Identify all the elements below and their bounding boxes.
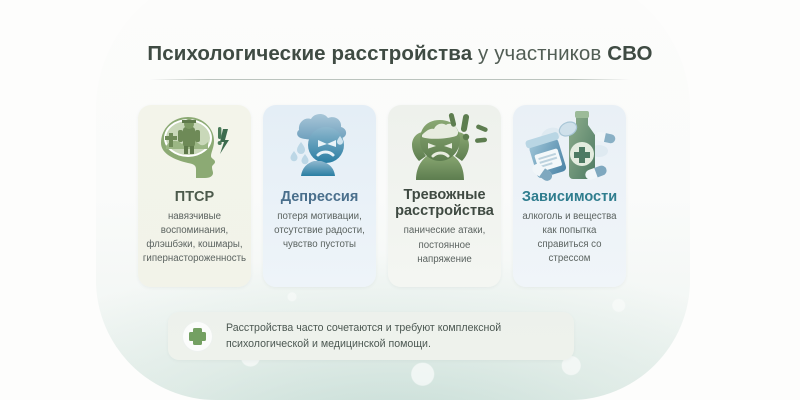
- disorder-card-depression[interactable]: Депрессия потеря мотивации, отсутствие р…: [263, 105, 376, 287]
- card-title: Тревожные расстройства: [388, 187, 501, 219]
- card-description: потеря мотивации, отсутствие радости, чу…: [263, 210, 376, 252]
- sad-face-rain-cloud-icon: [263, 105, 376, 187]
- summary-banner: Расстройства часто сочетаются и требуют …: [168, 312, 574, 360]
- summary-line-2: психологической и медицинской помощи.: [226, 336, 501, 352]
- card-title: Зависимости: [522, 189, 617, 205]
- medical-cross-icon: [182, 321, 213, 352]
- bottle-pills-icon: [513, 105, 626, 187]
- head-clutching-stress-icon: [388, 105, 501, 187]
- title-divider: [150, 79, 630, 80]
- card-description: алкоголь и вещества как попытка справить…: [513, 210, 626, 266]
- page-title-part-3: СВО: [607, 42, 652, 65]
- infographic-slide: Психологические расстройства у участнико…: [0, 0, 800, 400]
- page-title: Психологические расстройства у участнико…: [0, 42, 800, 66]
- summary-line-1: Расстройства часто сочетаются и требуют …: [226, 320, 501, 336]
- disorder-card-list: ПТСР навязчивые воспоминания, флэшбэки, …: [138, 105, 626, 287]
- head-soldier-flashback-icon: [138, 105, 251, 187]
- disorder-card-ptsr[interactable]: ПТСР навязчивые воспоминания, флэшбэки, …: [138, 105, 251, 287]
- summary-banner-text: Расстройства часто сочетаются и требуют …: [226, 320, 501, 353]
- card-title: ПТСР: [175, 189, 214, 205]
- disorder-card-anxiety[interactable]: Тревожные расстройства панические атаки,…: [388, 105, 501, 287]
- disorder-card-addiction[interactable]: Зависимости алкоголь и вещества как попы…: [513, 105, 626, 287]
- card-title: Депрессия: [281, 189, 359, 205]
- page-title-part-1: Психологические расстройства: [147, 42, 472, 65]
- card-description: навязчивые воспоминания, флэшбэки, кошма…: [138, 210, 251, 266]
- page-title-part-2: у участников: [472, 42, 607, 65]
- card-description: панические атаки, постоянное напряжение: [388, 224, 501, 266]
